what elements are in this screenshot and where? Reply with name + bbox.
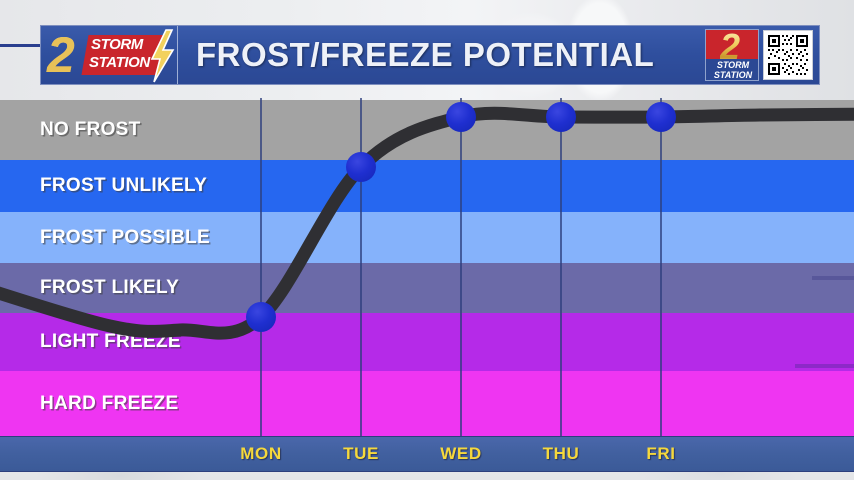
level-band-light-freeze: LIGHT FREEZE	[0, 313, 854, 371]
frost-potential-chart: NO FROSTFROST UNLIKELYFROST POSSIBLEFROS…	[0, 98, 854, 436]
page-title: FROST/FREEZE POTENTIAL	[178, 26, 687, 84]
level-band-frost-possible: FROST POSSIBLE	[0, 212, 854, 263]
level-band-label: LIGHT FREEZE	[40, 331, 181, 353]
logo-storm-text: STORM	[91, 36, 143, 53]
gridline-tue	[360, 98, 362, 436]
data-point-mon[interactable]	[246, 302, 276, 332]
band-artifact-upper	[812, 276, 854, 280]
level-band-no-frost: NO FROST	[0, 100, 854, 160]
level-band-label: FROST POSSIBLE	[40, 227, 210, 249]
level-band-frost-likely: FROST LIKELY	[0, 263, 854, 313]
data-point-tue[interactable]	[346, 152, 376, 182]
day-label-wed: WED	[440, 444, 481, 464]
band-artifact-lower	[795, 364, 854, 368]
lightning-bolt-icon	[149, 29, 175, 83]
level-band-frost-unlikely: FROST UNLIKELY	[0, 160, 854, 212]
mini-storm-text: STORM	[706, 60, 759, 70]
storm-station-logo: 2 STORM STATION	[41, 26, 178, 84]
day-label-mon: MON	[240, 444, 281, 464]
day-axis-bar: MONTUEWEDTHUFRI	[0, 436, 854, 472]
day-label-fri: FRI	[646, 444, 675, 464]
level-band-hard-freeze: HARD FREEZE	[0, 371, 854, 436]
level-band-label: NO FROST	[40, 119, 141, 141]
level-band-label: FROST UNLIKELY	[40, 175, 207, 197]
station-mini-logo: 2 STORM STATION	[705, 29, 759, 81]
header-bar: 2 STORM STATION FROST/FREEZE POTENTIAL 2…	[40, 25, 820, 85]
qr-code-icon[interactable]	[763, 30, 813, 80]
data-point-wed[interactable]	[446, 102, 476, 132]
day-label-tue: TUE	[343, 444, 379, 464]
header-right-group: 2 STORM STATION	[687, 26, 819, 84]
gridline-thu	[560, 98, 562, 436]
channel-number-logo: 2	[47, 30, 73, 80]
gridline-wed	[460, 98, 462, 436]
gridline-fri	[660, 98, 662, 436]
day-label-thu: THU	[543, 444, 580, 464]
gridline-mon	[260, 98, 262, 436]
logo-station-text: STATION	[89, 54, 150, 71]
weather-graphic-screen: 2 STORM STATION FROST/FREEZE POTENTIAL 2…	[0, 0, 854, 480]
data-point-thu[interactable]	[546, 102, 576, 132]
level-band-label: HARD FREEZE	[40, 393, 178, 415]
data-point-fri[interactable]	[646, 102, 676, 132]
mini-station-text: STATION	[706, 70, 759, 80]
level-band-label: FROST LIKELY	[40, 277, 179, 299]
